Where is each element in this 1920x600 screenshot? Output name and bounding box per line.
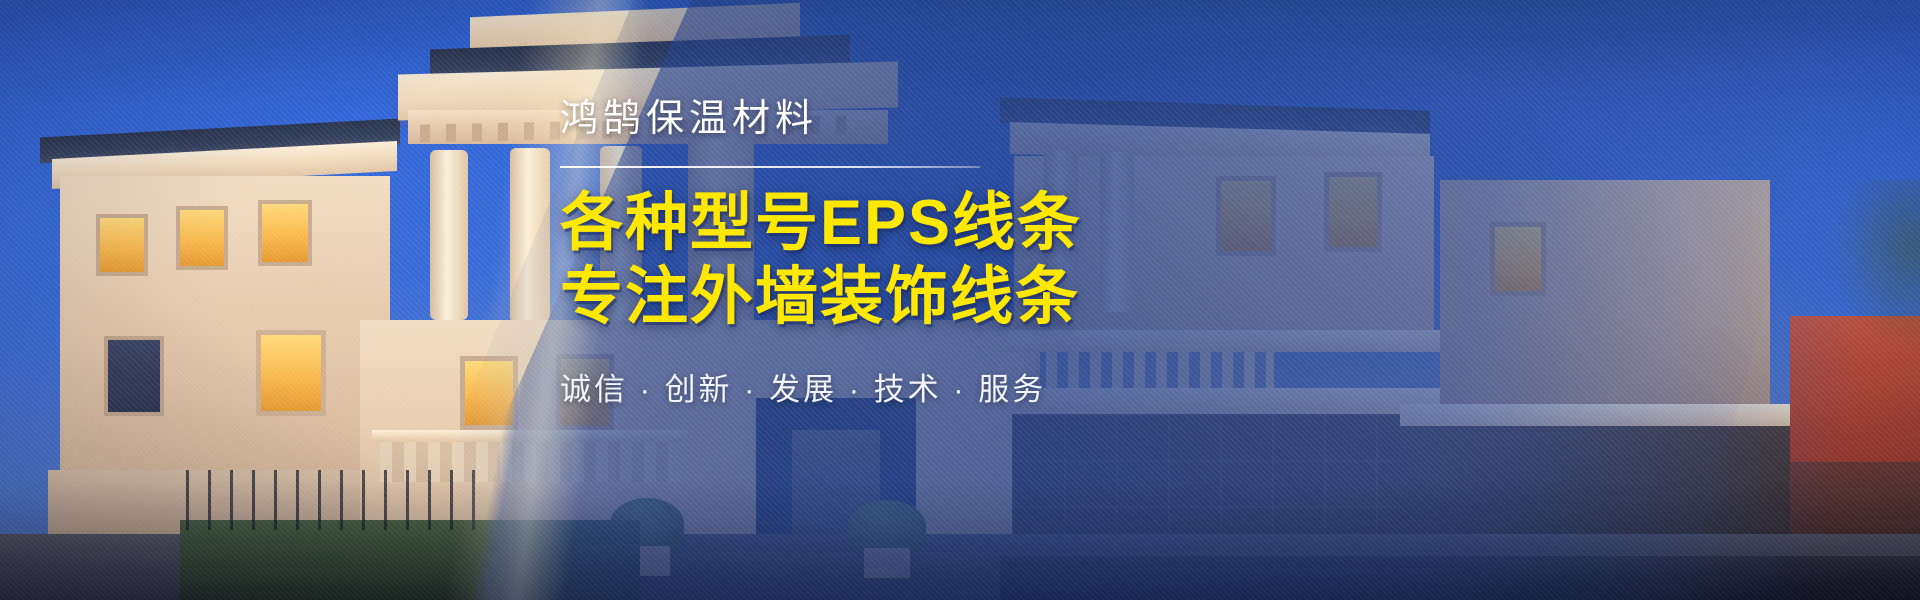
banner-content: 鸿鹄保温材料 各种型号EPS线条 专注外墙装饰线条 诚信 · 创新 · 发展 ·…	[560, 96, 1180, 409]
window-lit	[176, 206, 228, 270]
headline-line-2: 专注外墙装饰线条	[560, 260, 1180, 334]
window-lit	[256, 330, 326, 416]
brand-name: 鸿鹄保温材料	[560, 96, 1180, 144]
window-lit	[258, 200, 312, 266]
window-lit	[96, 214, 148, 276]
tagline: 诚信 · 创新 · 发展 · 技术 · 服务	[560, 364, 1180, 409]
hero-banner: 鸿鹄保温材料 各种型号EPS线条 专注外墙装饰线条 诚信 · 创新 · 发展 ·…	[0, 0, 1920, 600]
column	[430, 150, 468, 320]
window-dark	[104, 336, 164, 416]
title-divider	[560, 166, 980, 168]
headline-line-1: 各种型号EPS线条	[560, 186, 1180, 260]
